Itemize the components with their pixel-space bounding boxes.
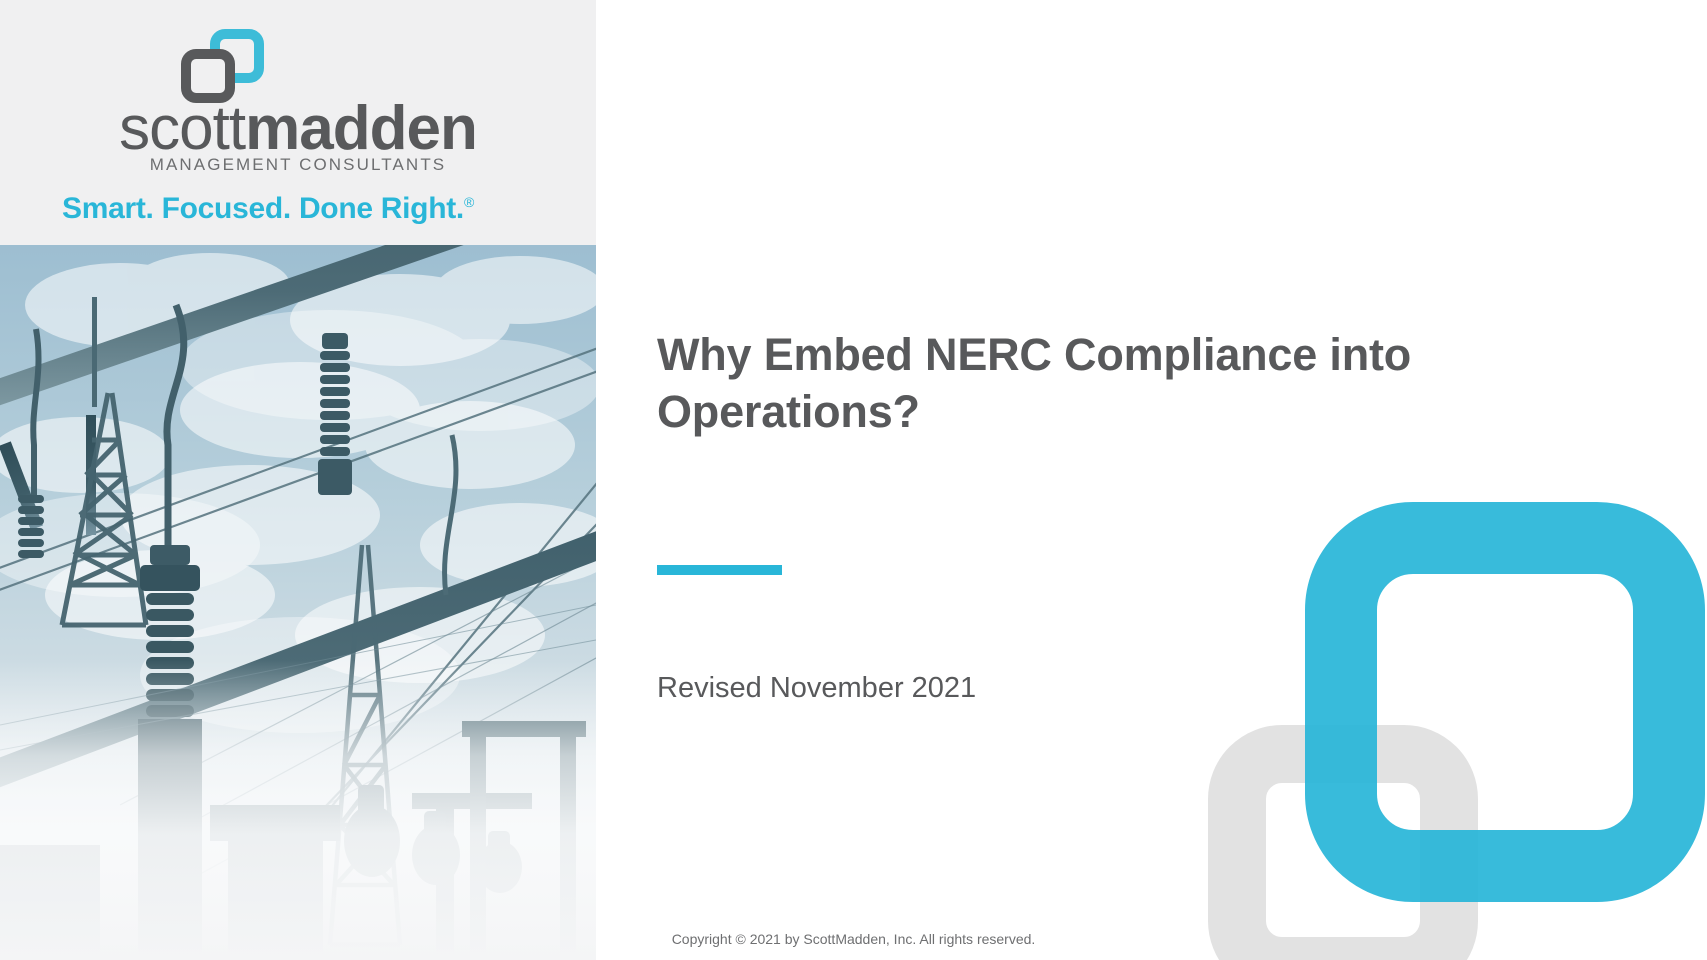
accent-rule-divider [657,565,782,575]
brand-wordmark: scottmadden [0,98,596,160]
substation-photo [0,245,596,960]
tagline-text: Smart. Focused. Done Right. [62,192,464,225]
title-slide: scottmadden MANAGEMENT CONSULTANTS Smart… [0,0,1707,960]
revision-date: Revised November 2021 [657,672,976,705]
page-title: Why Embed NERC Compliance into Operation… [657,327,1567,440]
wordmark-bold-part: madden [245,94,477,163]
copyright-notice: Copyright © 2021 by ScottMadden, Inc. Al… [0,931,1707,947]
photo-bottom-fade [0,660,596,960]
wordmark-light-part: scott [119,94,245,163]
brand-header-block: scottmadden MANAGEMENT CONSULTANTS Smart… [0,0,596,245]
left-brand-panel: scottmadden MANAGEMENT CONSULTANTS Smart… [0,0,596,960]
brand-tagline: Smart. Focused. Done Right.® [0,192,596,226]
deco-cyan-square-icon [1305,502,1705,902]
registered-trademark-icon: ® [464,194,474,210]
corner-logo-decoration [1130,470,1707,960]
brand-sub-wordmark: MANAGEMENT CONSULTANTS [0,155,596,175]
